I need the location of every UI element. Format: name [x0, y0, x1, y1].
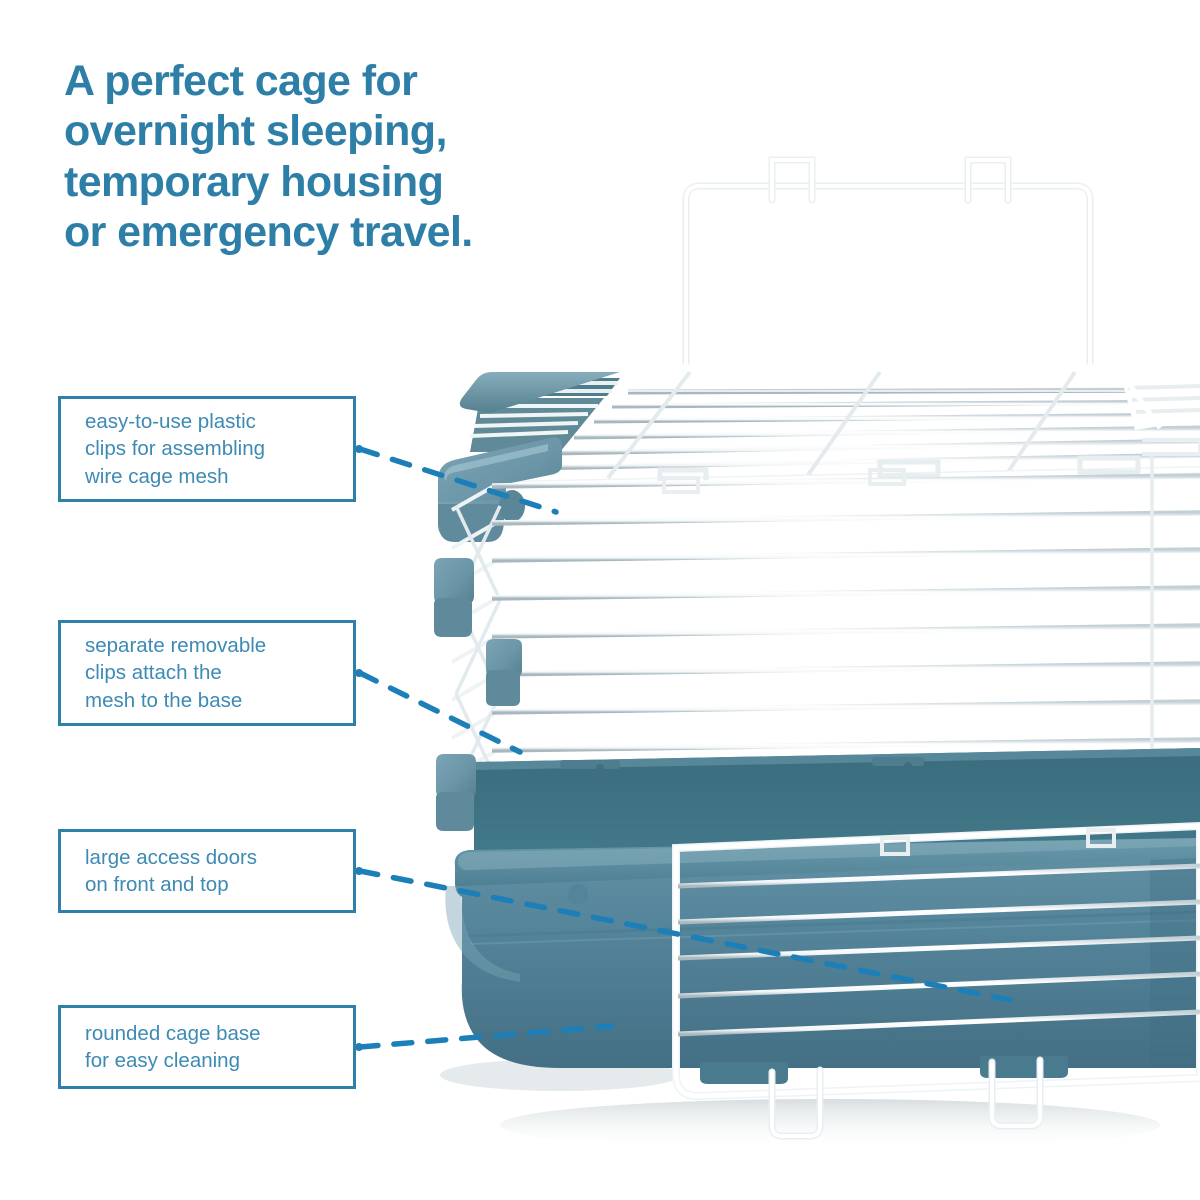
callout-plastic-clips: easy-to-use plastic clips for assembling…: [58, 396, 356, 502]
callout-4-line-2: for easy cleaning: [85, 1047, 261, 1074]
callout-text: separate removable clips attach the mesh…: [61, 632, 276, 713]
callout-3-line-1: large access doors: [85, 844, 257, 871]
callout-1-line-2: clips for assembling: [85, 435, 265, 462]
callout-3-line-2: on front and top: [85, 871, 257, 898]
callout-1-line-3: wire cage mesh: [85, 463, 265, 490]
callout-rounded-base: rounded cage base for easy cleaning: [58, 1005, 356, 1089]
headline-line-3: temporary housing: [64, 157, 624, 207]
callout-2-line-1: separate removable: [85, 632, 266, 659]
infographic-canvas: A perfect cage for overnight sleeping, t…: [0, 0, 1200, 1200]
headline-line-1: A perfect cage for: [64, 56, 624, 106]
callout-4-line-1: rounded cage base: [85, 1020, 261, 1047]
top-access-door: [686, 160, 1090, 386]
corner-clip-main: [438, 437, 562, 542]
callout-text: easy-to-use plastic clips for assembling…: [61, 408, 275, 489]
page-headline: A perfect cage for overnight sleeping, t…: [64, 56, 624, 257]
callout-access-doors: large access doors on front and top: [58, 829, 356, 913]
callout-2-line-2: clips attach the: [85, 659, 266, 686]
callout-text: large access doors on front and top: [61, 844, 267, 898]
callout-1-line-1: easy-to-use plastic: [85, 408, 265, 435]
headline-line-4: or emergency travel.: [64, 207, 624, 257]
callout-text: rounded cage base for easy cleaning: [61, 1020, 271, 1074]
callout-removable-clips: separate removable clips attach the mesh…: [58, 620, 356, 726]
leader-anchors: [355, 445, 363, 1051]
callout-2-line-3: mesh to the base: [85, 687, 266, 714]
headline-line-2: overnight sleeping,: [64, 106, 624, 156]
